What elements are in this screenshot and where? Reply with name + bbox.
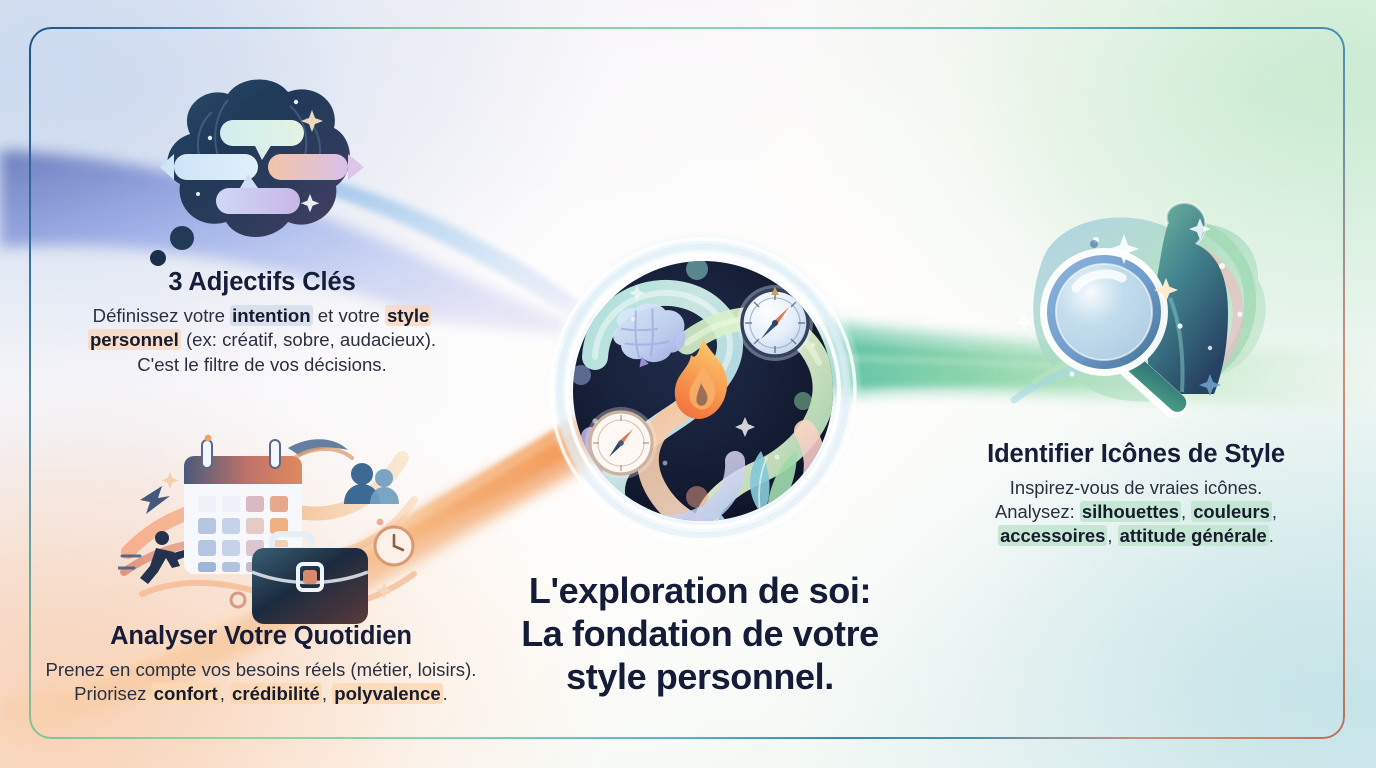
main-title-line-3: style personnel. xyxy=(455,656,945,699)
infographic-canvas: 3 Adjectifs Clés Définissez votre intent… xyxy=(0,0,1376,768)
quotidien-l2c: , xyxy=(220,683,230,704)
node-icones: Identifier Icônes de Style Inspirez-vous… xyxy=(962,440,1310,549)
node-adjectifs-title: 3 Adjectifs Clés xyxy=(62,268,462,297)
arrow-up-icon xyxy=(140,486,170,514)
quotidien-l2e: , xyxy=(322,683,332,704)
icones-l1: Inspirez-vous de vraies icônes. xyxy=(1010,477,1262,498)
quotidien-l2g: . xyxy=(443,683,448,704)
quotidien-highlight-credibilite: crédibilité xyxy=(230,683,322,704)
icones-l2a: Analysez: xyxy=(995,501,1080,522)
adjectifs-highlight-style: style xyxy=(385,305,431,326)
icones-l3d: . xyxy=(1269,525,1274,546)
clock-icon xyxy=(375,527,413,565)
node-icones-title: Identifier Icônes de Style xyxy=(962,440,1310,469)
thought-cloud-tags-icon xyxy=(128,72,383,272)
self-exploration-orb xyxy=(537,225,869,557)
node-quotidien-title: Analyser Votre Quotidien xyxy=(32,622,490,651)
adjectifs-l3: C'est le filtre de vos décisions. xyxy=(137,354,387,375)
icones-l3b: , xyxy=(1107,525,1117,546)
quotidien-l2a: Priorisez xyxy=(74,683,152,704)
magnifier-silhouette-icon xyxy=(1004,196,1294,434)
quotidien-l1: Prenez en compte vos besoins réels (méti… xyxy=(46,659,477,680)
icones-highlight-silhouettes: silhouettes xyxy=(1080,501,1181,522)
main-title: L'exploration de soi: La fondation de vo… xyxy=(455,570,945,698)
adjectifs-l1c: et votre xyxy=(313,305,385,326)
main-title-line-1: L'exploration de soi: xyxy=(455,570,945,613)
node-adjectifs-body: Définissez votre intention et votre styl… xyxy=(62,304,462,378)
icones-l2c: , xyxy=(1181,501,1191,522)
quotidien-highlight-polyvalence: polyvalence xyxy=(332,683,442,704)
node-adjectifs: 3 Adjectifs Clés Définissez votre intent… xyxy=(62,268,462,378)
adjectifs-highlight-intention: intention xyxy=(230,305,313,326)
calendar-briefcase-routine-icon xyxy=(118,424,428,634)
adjectifs-l2b: (ex: créatif, sobre, audacieux). xyxy=(181,329,436,350)
node-quotidien-body: Prenez en compte vos besoins réels (méti… xyxy=(32,658,490,707)
adjectifs-highlight-personnel: personnel xyxy=(88,329,181,350)
main-title-line-2: La fondation de votre xyxy=(455,613,945,656)
adjectifs-l1a: Définissez votre xyxy=(93,305,230,326)
icones-highlight-attitude: attitude générale xyxy=(1118,525,1269,546)
icones-highlight-accessoires: accessoires xyxy=(998,525,1107,546)
node-icones-body: Inspirez-vous de vraies icônes.Analysez:… xyxy=(962,476,1310,549)
icones-l2e: , xyxy=(1272,501,1277,522)
icones-highlight-couleurs: couleurs xyxy=(1191,501,1272,522)
quotidien-highlight-confort: confort xyxy=(152,683,220,704)
node-quotidien: Analyser Votre Quotidien Prenez en compt… xyxy=(32,622,490,707)
